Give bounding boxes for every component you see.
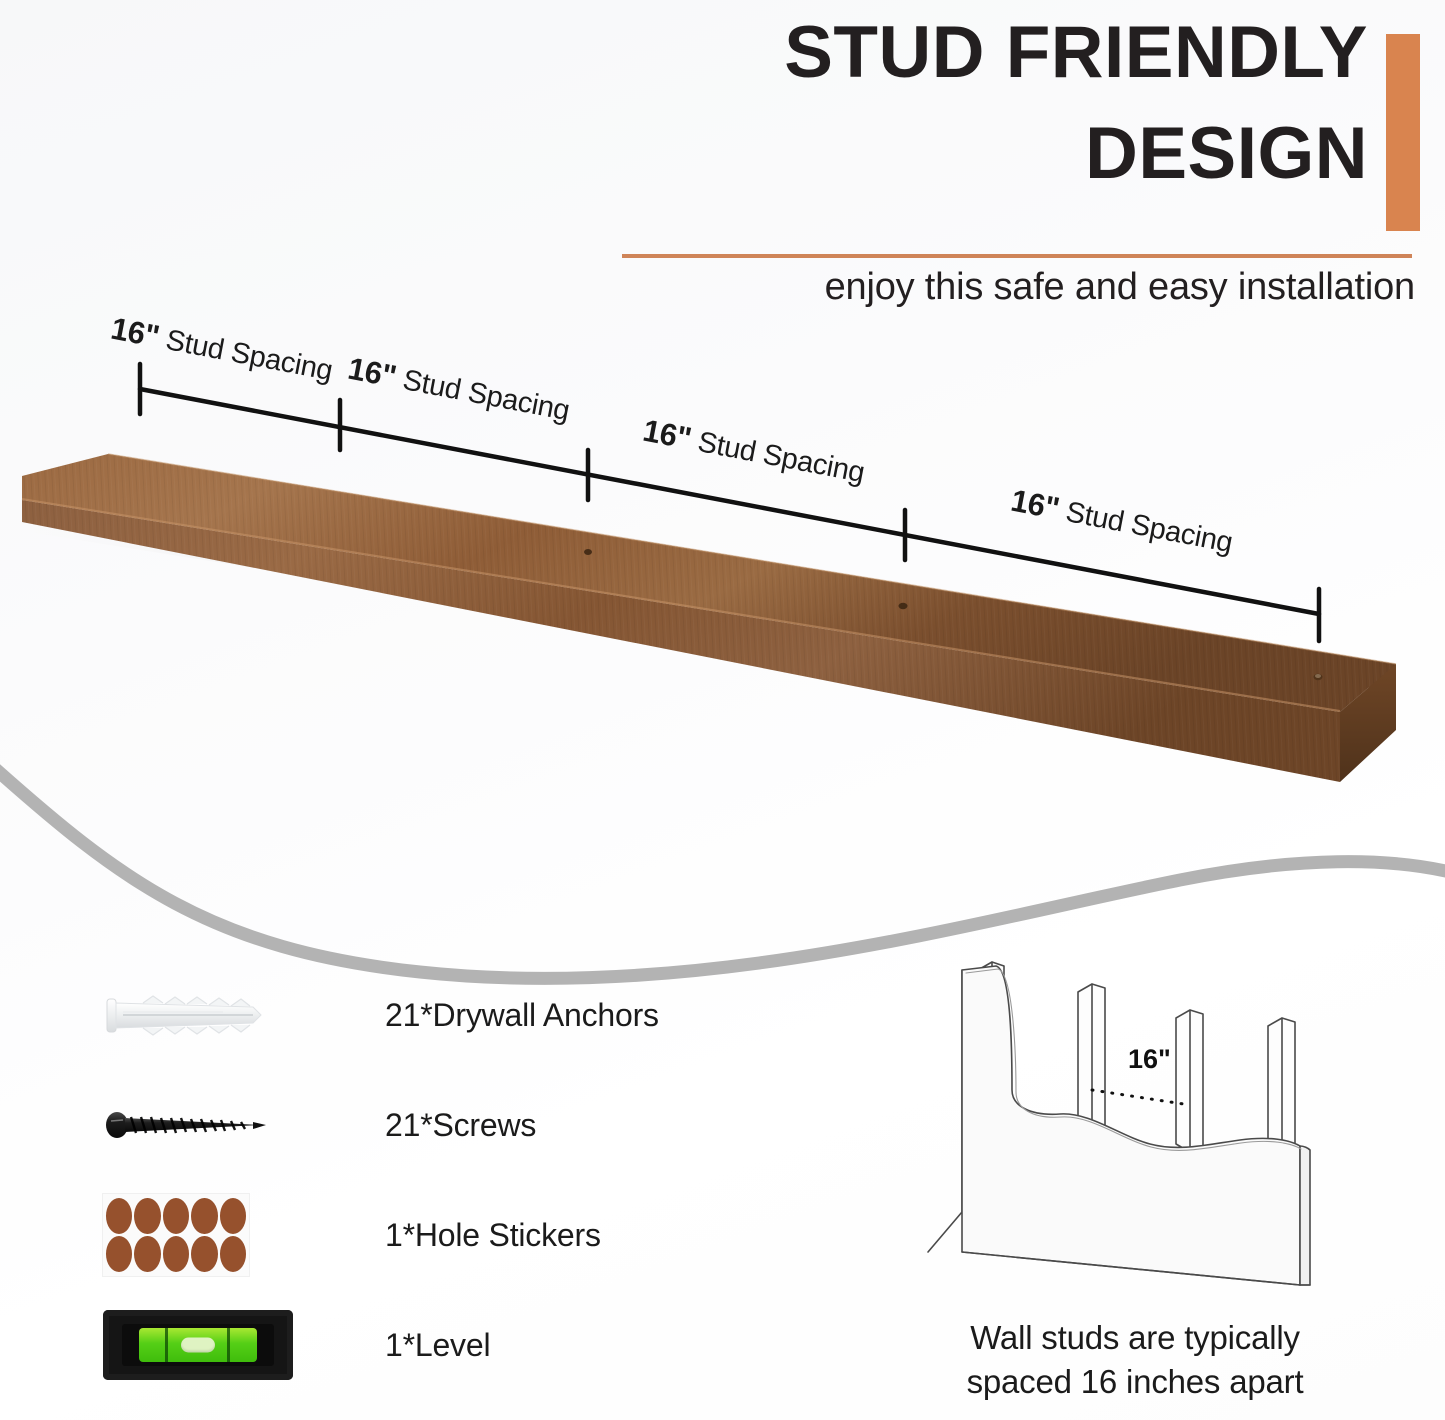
level-bubble xyxy=(181,1338,215,1353)
sticker-dot xyxy=(106,1236,132,1272)
level-vial xyxy=(139,1328,257,1362)
drywall-anchor-icon xyxy=(95,960,325,1070)
stud-spacing-measure-label: 16" xyxy=(1128,1044,1171,1074)
level-mark xyxy=(165,1328,168,1362)
wall-caption-line-2: spaced 16 inches apart xyxy=(900,1360,1370,1404)
page-subtitle: enjoy this safe and easy installation xyxy=(600,266,1415,309)
sticker-dot xyxy=(191,1198,217,1234)
dimension-label-1-text: 16" Stud Spacing xyxy=(108,314,335,388)
parts-list-item-label: 21*Screws xyxy=(385,1107,536,1144)
parts-list: 21*Drywall Anchors xyxy=(95,960,735,1400)
sticker-dot xyxy=(134,1236,160,1272)
parts-list-item-label: 1*Level xyxy=(385,1327,490,1364)
page-title-line-2: DESIGN xyxy=(600,119,1420,190)
dimension-label-2: 16" Stud Spacing xyxy=(345,351,573,429)
parts-list-item-label: 21*Drywall Anchors xyxy=(385,997,659,1034)
dimension-label-2-text: 16" Stud Spacing xyxy=(345,354,572,428)
wall-caption-line-1: Wall studs are typically xyxy=(900,1316,1370,1360)
sticker-dot xyxy=(191,1236,217,1272)
hole-stickers-icon xyxy=(95,1180,325,1290)
accent-bar xyxy=(1386,34,1420,231)
screw-icon xyxy=(95,1070,325,1180)
infographic-canvas: STUD FRIENDLY DESIGN enjoy this safe and… xyxy=(0,0,1445,1420)
dimension-label-1: 16" Stud Spacing xyxy=(108,311,336,389)
parts-list-item: 1*Hole Stickers xyxy=(95,1180,735,1290)
sticker-sheet xyxy=(103,1194,249,1276)
sticker-dot xyxy=(106,1198,132,1234)
page-title-line-1: STUD FRIENDLY xyxy=(600,18,1420,89)
wall-stud-illustration: 16" xyxy=(900,940,1400,1290)
sticker-dot xyxy=(220,1236,246,1272)
wall-diagram-caption: Wall studs are typically spaced 16 inche… xyxy=(900,1316,1370,1403)
parts-list-item-label: 1*Hole Stickers xyxy=(385,1217,601,1254)
sticker-dot xyxy=(163,1198,189,1234)
sticker-dot xyxy=(220,1198,246,1234)
header-divider-rule xyxy=(622,254,1412,258)
sticker-dot xyxy=(163,1236,189,1272)
parts-list-item: 21*Screws xyxy=(95,1070,735,1180)
wall-stud-diagram: 16" xyxy=(900,940,1400,1290)
header-block: STUD FRIENDLY DESIGN xyxy=(600,18,1420,258)
level-body xyxy=(103,1310,293,1380)
level-icon xyxy=(95,1290,325,1400)
level-window xyxy=(122,1324,274,1366)
parts-list-item: 1*Level xyxy=(95,1290,735,1400)
parts-list-item: 21*Drywall Anchors xyxy=(95,960,735,1070)
level-mark xyxy=(227,1328,230,1362)
sticker-dot xyxy=(134,1198,160,1234)
